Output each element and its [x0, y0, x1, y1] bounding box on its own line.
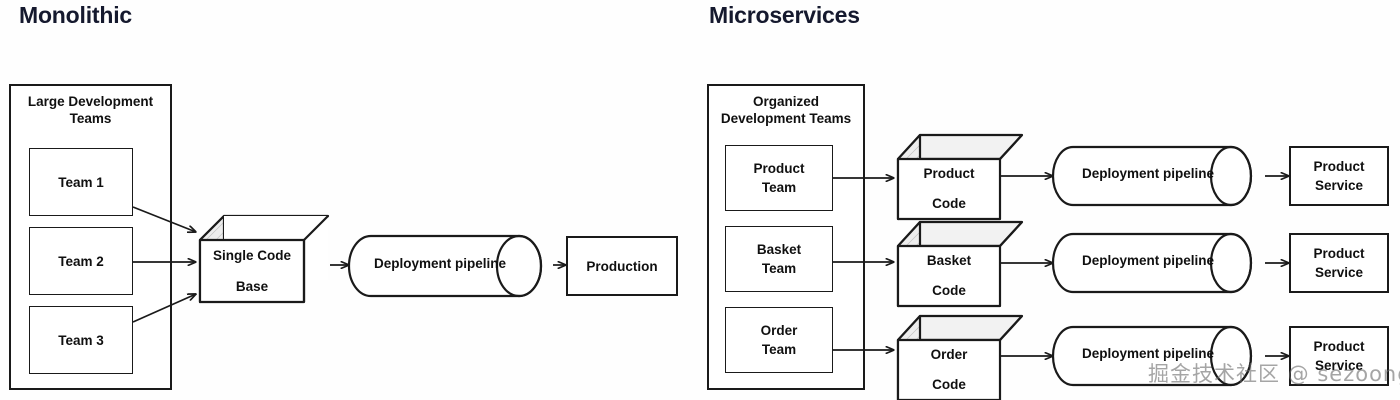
product-code-cube[interactable]: Product Code [896, 129, 1024, 221]
team-box-product-team[interactable]: Product Team [725, 145, 833, 211]
single-code-base-cube[interactable]: Single Code Base [198, 208, 330, 304]
team-box-order-team[interactable]: Order Team [725, 307, 833, 373]
order-code-cube[interactable]: Order Code [896, 310, 1024, 400]
team-box-team-1[interactable]: Team 1 [29, 148, 133, 216]
diagram-canvas: Monolithic Microservices Large Developme… [0, 0, 1400, 400]
production-box[interactable]: Production [566, 236, 678, 296]
monolithic-deployment-pipeline[interactable]: Deployment pipeline [349, 234, 553, 298]
team-box-team-2[interactable]: Team 2 [29, 227, 133, 295]
product-service-box-1[interactable]: Product Service [1289, 146, 1389, 206]
section-title-monolithic: Monolithic [19, 2, 132, 29]
microservices-panel-heading: Organized Development Teams [709, 93, 863, 127]
monolithic-panel-heading: Large Development Teams [11, 93, 170, 127]
product-service-box-3[interactable]: Product Service [1289, 326, 1389, 386]
team-box-team-3[interactable]: Team 3 [29, 306, 133, 374]
order-deployment-pipeline[interactable]: Deployment pipeline [1053, 325, 1265, 387]
team-box-basket-team[interactable]: Basket Team [725, 226, 833, 292]
product-service-box-2[interactable]: Product Service [1289, 233, 1389, 293]
product-deployment-pipeline[interactable]: Deployment pipeline [1053, 145, 1265, 207]
basket-code-cube[interactable]: Basket Code [896, 216, 1024, 308]
section-title-microservices: Microservices [709, 2, 860, 29]
basket-deployment-pipeline[interactable]: Deployment pipeline [1053, 232, 1265, 294]
